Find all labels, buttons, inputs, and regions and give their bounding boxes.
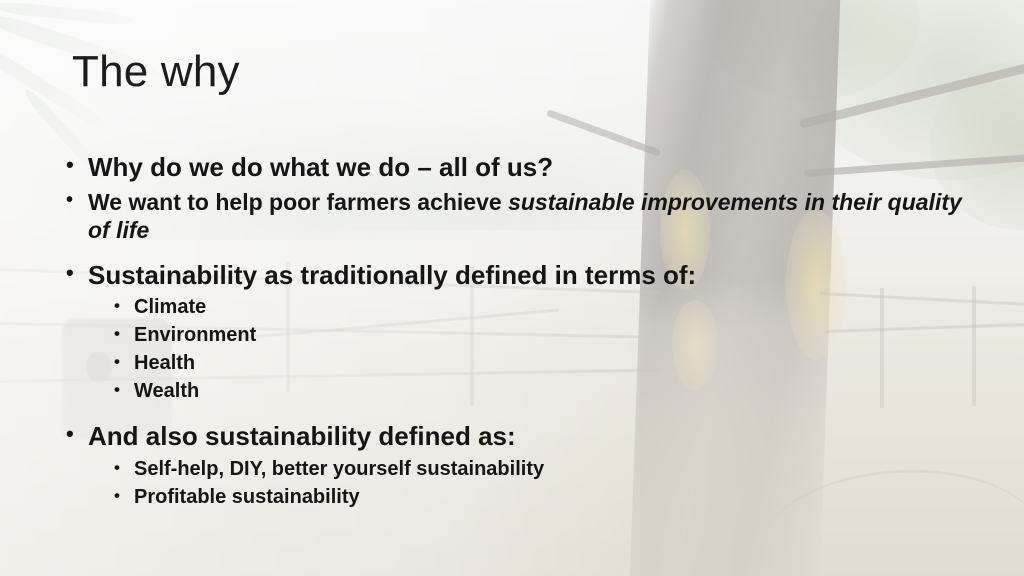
slide: The why • Why do we do what we do – all … <box>0 0 1024 576</box>
sub-bullet-item: • Self-help, DIY, better yourself sustai… <box>114 457 966 482</box>
bullet-item: • And also sustainability defined as: <box>66 421 966 452</box>
bullet-text: Sustainability as traditionally defined … <box>88 260 966 291</box>
bullet-glyph: • <box>66 260 88 284</box>
bullet-text: We want to help poor farmers achieve sus… <box>88 188 966 244</box>
bullet-list: • Why do we do what we do – all of us? •… <box>66 152 966 513</box>
sub-bullet-text: Profitable sustainability <box>134 485 966 510</box>
sub-bullet-item: • Environment <box>114 323 966 348</box>
bullet-glyph: • <box>114 323 134 342</box>
bullet-glyph: • <box>114 485 134 504</box>
bullet-item: • Why do we do what we do – all of us? <box>66 152 966 183</box>
spacer <box>66 407 966 421</box>
bullet-glyph: • <box>114 379 134 398</box>
sub-bullet-item: • Climate <box>114 295 966 320</box>
bullet-glyph: • <box>66 188 88 210</box>
bullet-glyph: • <box>66 152 88 176</box>
bullet-glyph: • <box>114 351 134 370</box>
sub-bullet-text: Environment <box>134 323 966 348</box>
sub-bullet-text: Health <box>134 351 966 376</box>
sub-bullet-text: Self-help, DIY, better yourself sustaina… <box>134 457 966 482</box>
bullet-item: • We want to help poor farmers achieve s… <box>66 188 966 244</box>
slide-content: The why • Why do we do what we do – all … <box>0 0 1024 576</box>
bullet-glyph: • <box>66 421 88 445</box>
bullet-glyph: • <box>114 457 134 476</box>
sub-bullet-text: Wealth <box>134 379 966 404</box>
sub-bullet-text: Climate <box>134 295 966 320</box>
sub-bullet-item: • Wealth <box>114 379 966 404</box>
bullet-glyph: • <box>114 295 134 314</box>
sub-bullet-item: • Health <box>114 351 966 376</box>
bullet-text: And also sustainability defined as: <box>88 421 966 452</box>
sub-bullet-item: • Profitable sustainability <box>114 485 966 510</box>
bullet-text-plain: We want to help poor farmers achieve <box>88 189 508 215</box>
bullet-item: • Sustainability as traditionally define… <box>66 260 966 291</box>
spacer <box>66 252 966 260</box>
slide-title: The why <box>72 48 240 96</box>
bullet-text: Why do we do what we do – all of us? <box>88 152 966 183</box>
